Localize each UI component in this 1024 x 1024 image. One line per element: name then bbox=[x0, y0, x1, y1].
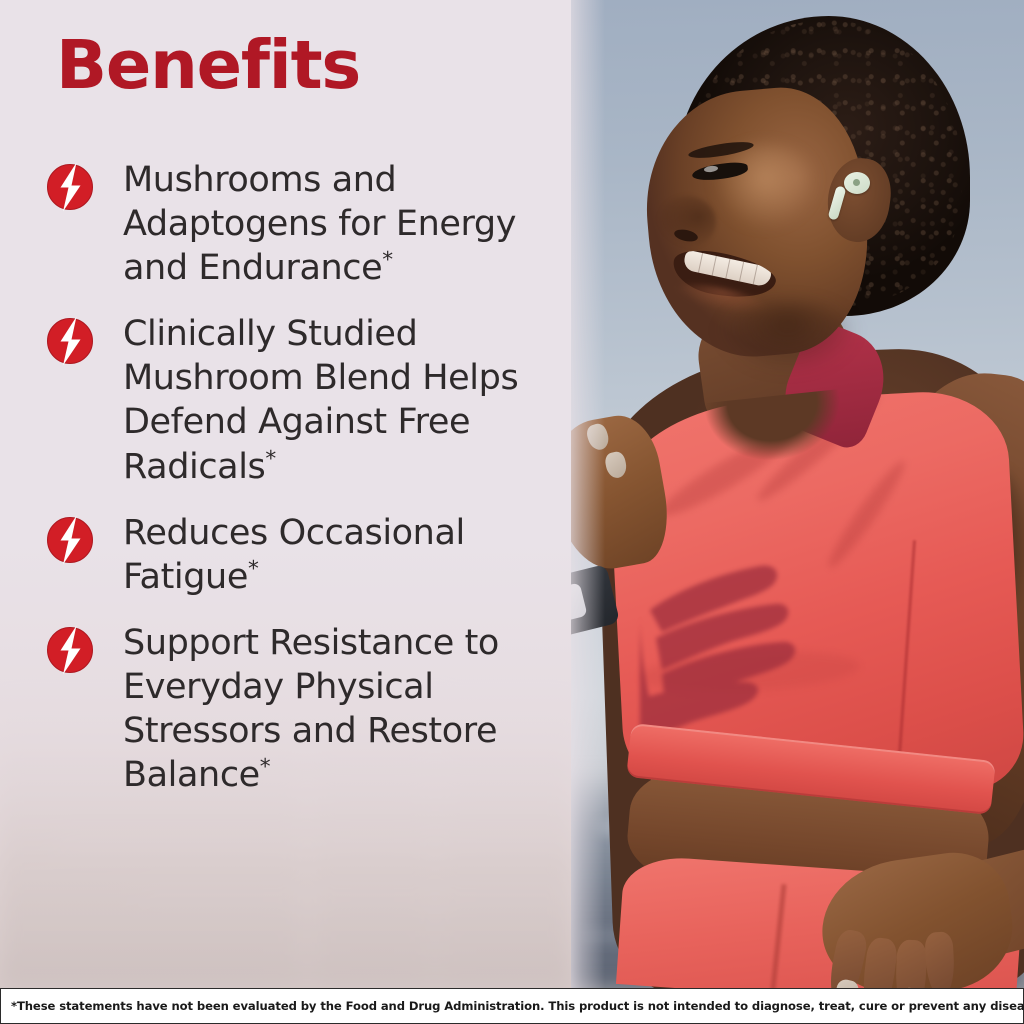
asterisk-marker: * bbox=[248, 556, 258, 581]
page-title: Benefits bbox=[56, 30, 360, 100]
benefits-poster: Benefits Mushrooms and Adaptogens for En… bbox=[0, 0, 1024, 1024]
disclaimer-bar: *These statements have not been evaluate… bbox=[0, 988, 1024, 1024]
disclaimer-text: *These statements have not been evaluate… bbox=[11, 999, 1024, 1013]
list-item-label: Support Resistance to Everyday Physical … bbox=[123, 621, 543, 797]
earbud-sensor bbox=[853, 179, 860, 186]
list-item: Support Resistance to Everyday Physical … bbox=[47, 621, 567, 797]
lightning-bolt-icon bbox=[47, 517, 93, 563]
list-item-label: Reduces Occasional Fatigue* bbox=[123, 511, 543, 599]
finger bbox=[924, 931, 955, 988]
list-item: Reduces Occasional Fatigue* bbox=[47, 511, 567, 599]
asterisk-marker: * bbox=[260, 754, 270, 779]
lightning-bolt-icon bbox=[47, 627, 93, 673]
asterisk-marker: * bbox=[382, 248, 392, 273]
lightning-bolt-icon bbox=[47, 164, 93, 210]
benefits-panel: Benefits Mushrooms and Adaptogens for En… bbox=[0, 0, 571, 988]
list-item: Mushrooms and Adaptogens for Energy and … bbox=[47, 158, 567, 290]
lightning-bolt-icon bbox=[47, 318, 93, 364]
asterisk-marker: * bbox=[265, 446, 275, 471]
head bbox=[648, 16, 968, 368]
list-item-label: Mushrooms and Adaptogens for Energy and … bbox=[123, 158, 543, 290]
hand-shadow bbox=[640, 492, 890, 742]
list-item-label: Clinically Studied Mushroom Blend Helps … bbox=[123, 312, 543, 488]
cheek-highlight bbox=[712, 144, 818, 230]
list-item: Clinically Studied Mushroom Blend Helps … bbox=[47, 312, 567, 488]
benefits-list: Mushrooms and Adaptogens for Energy and … bbox=[47, 158, 567, 819]
jaw-shadow bbox=[718, 302, 858, 372]
finger bbox=[895, 939, 928, 988]
